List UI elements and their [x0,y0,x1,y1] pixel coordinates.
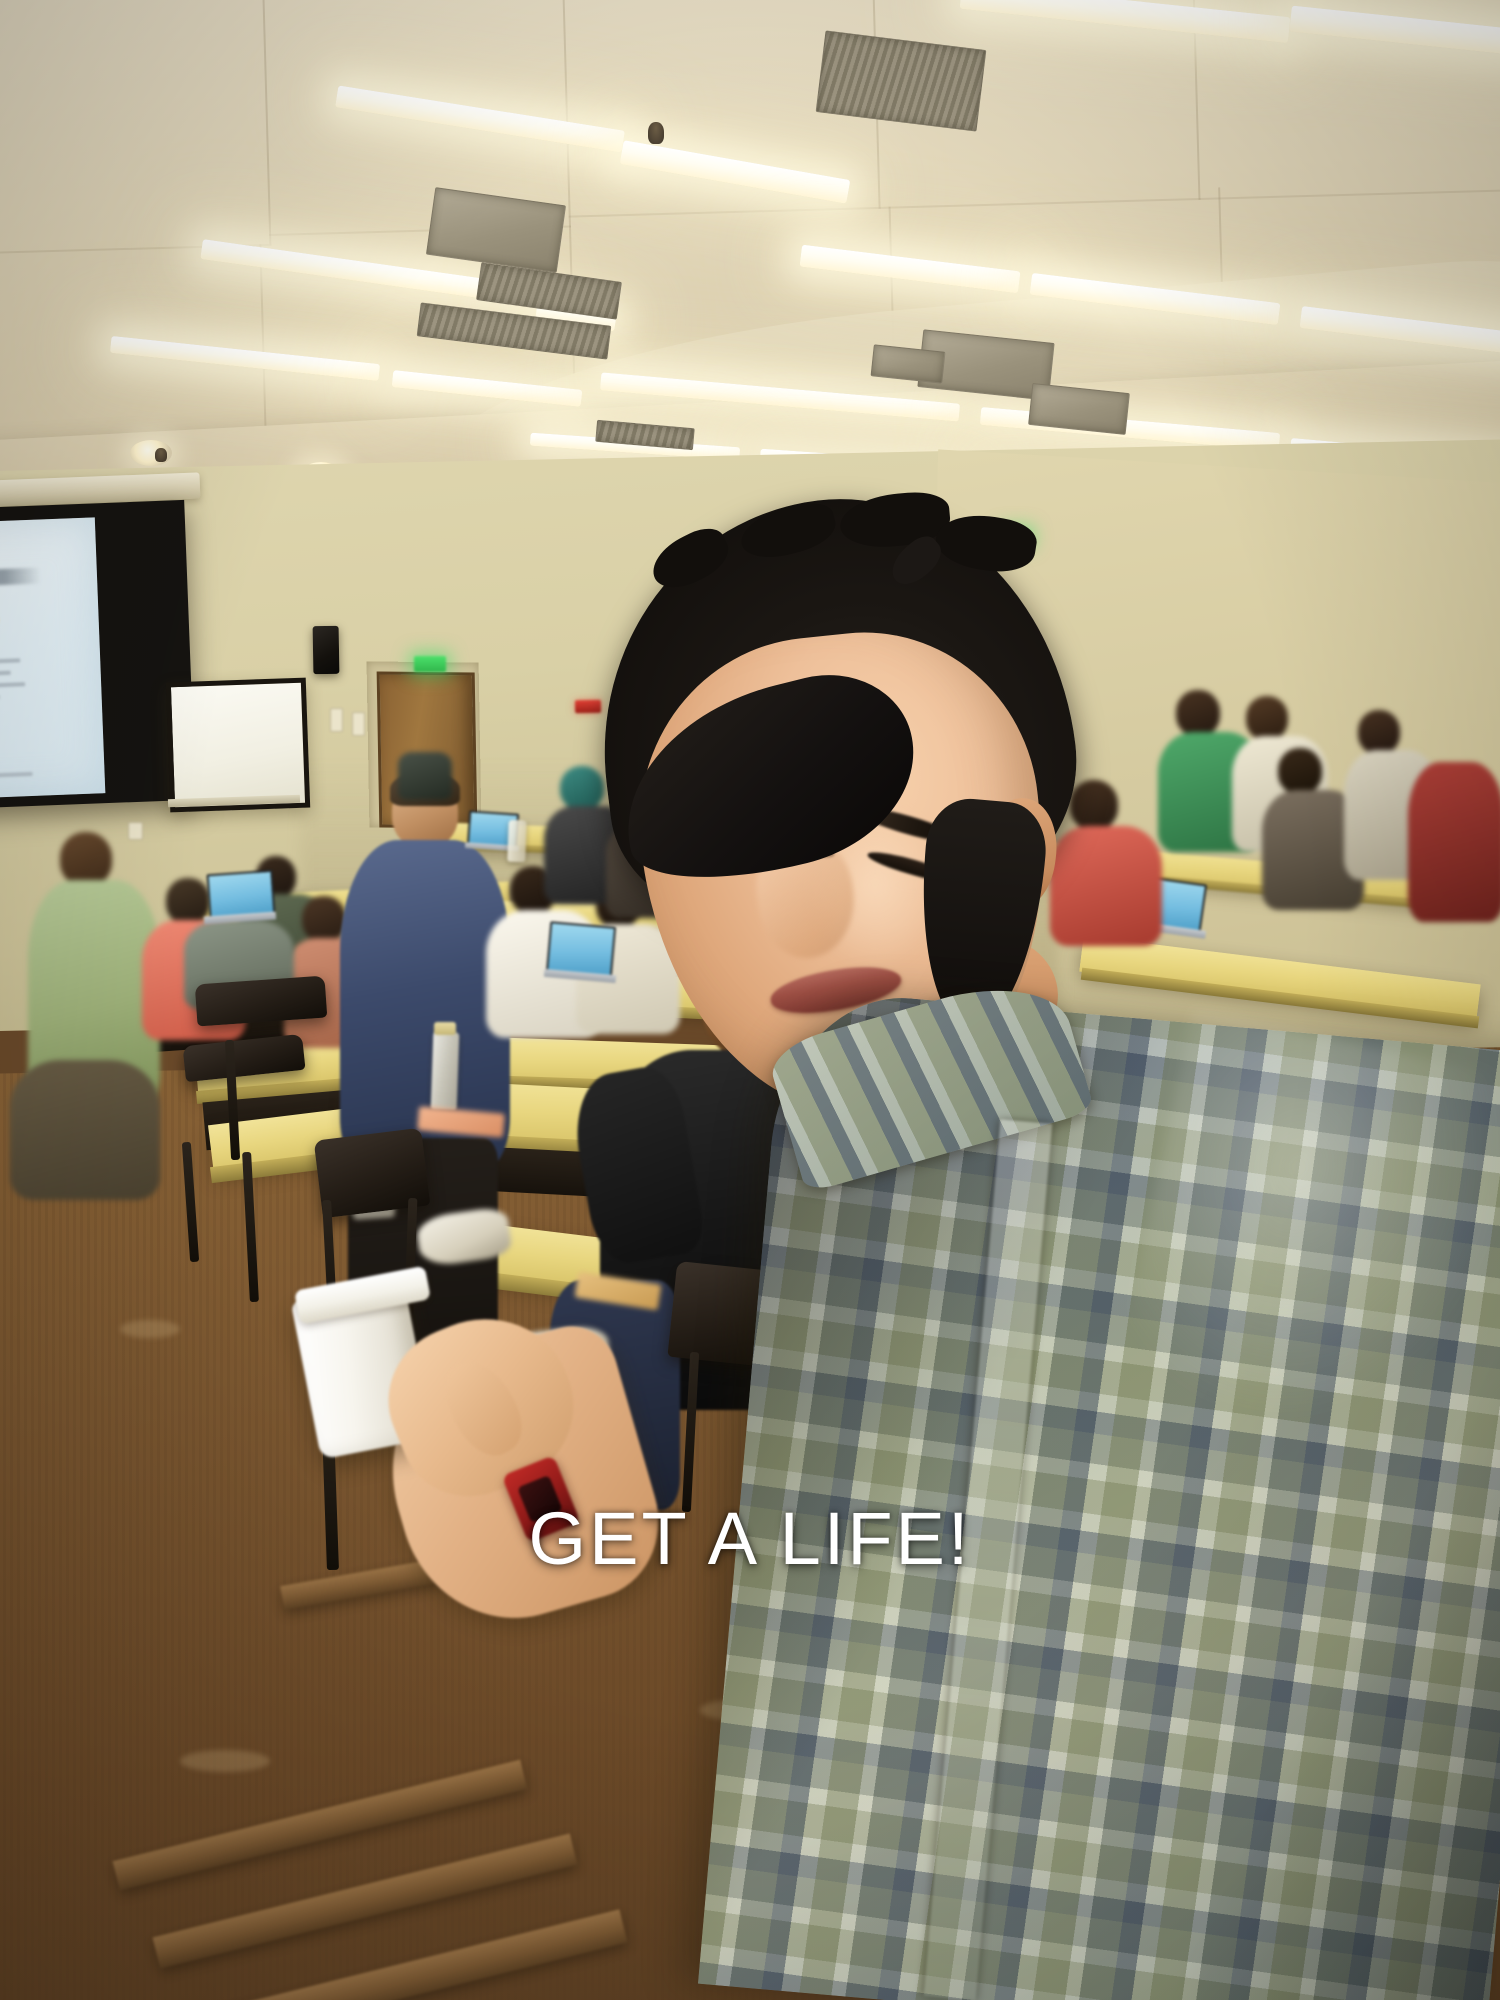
slide-text-line [0,658,20,666]
wall-outlet [128,822,143,840]
slide-text-line [0,772,33,780]
whiteboard [166,678,310,813]
slide-title-bar [0,567,41,588]
wall-outlet [330,708,343,732]
water-bottle [431,1032,460,1111]
sprinkler-head [155,448,167,462]
projection-screen [0,517,105,800]
wall-speaker [313,626,340,674]
bottle-cap [434,1022,456,1035]
projection-screen-frame [0,500,196,810]
lecture-hall-scene: GET A LIFE! [0,0,1500,2000]
wall-outlet [352,712,365,736]
bag-on-desk [398,752,452,800]
slide-text-line [0,671,11,678]
main-subject [590,500,1500,2000]
head [302,896,346,942]
torso [10,1060,160,1200]
slide-text-line [0,682,25,690]
head [60,832,112,886]
water-bottle [507,820,526,863]
exit-sign [414,656,446,672]
sprinkler-head [648,122,664,144]
